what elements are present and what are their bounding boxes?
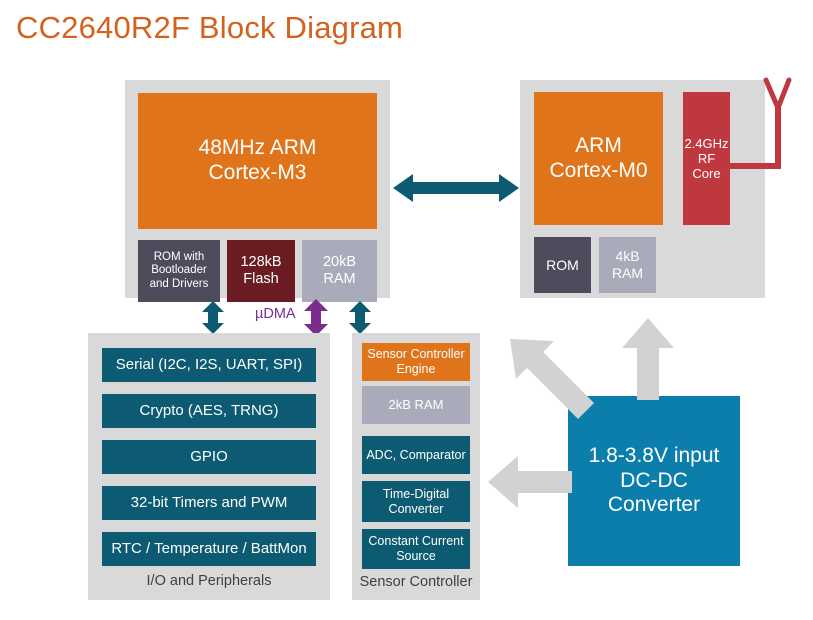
bidirectional-arrow-cpu-sensor xyxy=(347,301,373,334)
sensor-item-tdc: Time-Digital Converter xyxy=(362,481,470,522)
radio-main-block: ARM Cortex-M0 xyxy=(534,92,663,225)
sensor-item-adc: ADC, Comparator xyxy=(362,436,470,474)
sensor-group-container: Sensor Controller Engine 2kB RAM ADC, Co… xyxy=(352,333,480,600)
io-item-timers: 32-bit Timers and PWM xyxy=(102,486,316,520)
io-item-rtc: RTC / Temperature / BattMon xyxy=(102,532,316,566)
arrow-power-to-sensor xyxy=(488,456,572,508)
block-diagram-canvas: CC2640R2F Block Diagram 48MHz ARM Cortex… xyxy=(0,0,813,620)
bidirectional-arrow-dma xyxy=(302,299,330,336)
io-item-crypto: Crypto (AES, TRNG) xyxy=(102,394,316,428)
cpu-group-container: 48MHz ARM Cortex-M3 ROM with Bootloader … xyxy=(125,80,390,298)
bidirectional-arrow-cpu-radio xyxy=(393,170,519,206)
radio-memory-rom: ROM xyxy=(534,237,591,293)
cpu-memory-ram: 20kB RAM xyxy=(302,240,377,302)
antenna-icon xyxy=(726,74,796,170)
arrow-power-to-sensor-diagonal xyxy=(508,337,594,423)
sensor-item-engine: Sensor Controller Engine xyxy=(362,343,470,381)
cpu-memory-flash: 128kB Flash xyxy=(227,240,295,302)
io-group-container: Serial (I2C, I2S, UART, SPI) Crypto (AES… xyxy=(88,333,330,600)
sensor-group-caption: Sensor Controller xyxy=(352,574,480,590)
rf-core-block: 2.4GHz RF Core xyxy=(683,92,730,225)
cpu-main-block: 48MHz ARM Cortex-M3 xyxy=(138,93,377,229)
io-item-gpio: GPIO xyxy=(102,440,316,474)
dma-label: µDMA xyxy=(255,306,296,322)
cpu-memory-rom: ROM with Bootloader and Drivers xyxy=(138,240,220,302)
io-group-caption: I/O and Peripherals xyxy=(88,573,330,589)
io-item-serial: Serial (I2C, I2S, UART, SPI) xyxy=(102,348,316,382)
bidirectional-arrow-cpu-io xyxy=(200,301,226,334)
radio-memory-ram: 4kB RAM xyxy=(599,237,656,293)
arrow-power-to-radio xyxy=(622,318,674,400)
sensor-item-ram: 2kB RAM xyxy=(362,386,470,424)
page-title: CC2640R2F Block Diagram xyxy=(16,10,403,46)
sensor-item-ccs: Constant Current Source xyxy=(362,529,470,569)
